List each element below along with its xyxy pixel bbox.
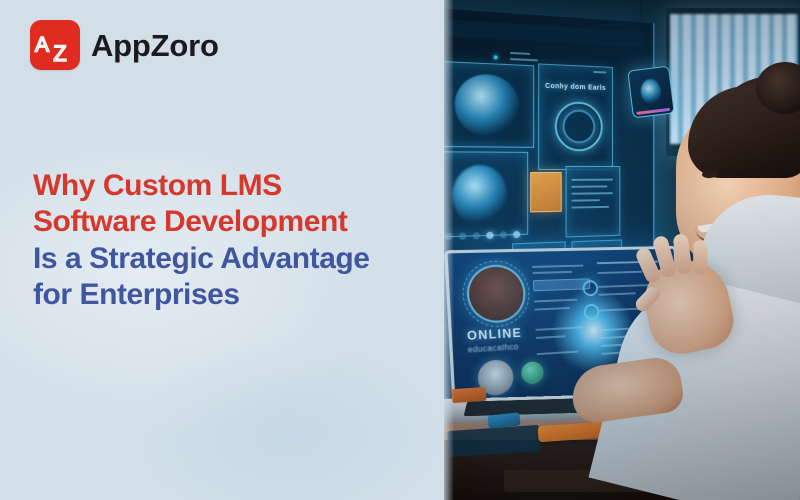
left-content-panel: A Z AppZoro Why Custom LMS Software Deve… (0, 0, 444, 500)
holo-indicator-dot (494, 55, 498, 59)
blog-banner: A Z AppZoro Why Custom LMS Software Deve… (0, 0, 800, 500)
svg-text:A: A (35, 34, 49, 57)
avatar (465, 264, 526, 324)
brain-orb (455, 73, 519, 137)
control-dot[interactable] (473, 232, 480, 239)
figure-orb (453, 165, 507, 226)
screen-text-line (597, 271, 642, 274)
screen-sublabel: educacathco (468, 342, 519, 354)
headline-line-3: Is a Strategic Advantage (33, 241, 433, 277)
headline-line-1: Why Custom LMS (33, 168, 433, 204)
floating-ar-card (627, 66, 675, 119)
holo-control-row[interactable] (445, 231, 520, 241)
holo-tile-brain (444, 61, 534, 148)
background-wash-secondary (120, 330, 444, 500)
notebook (452, 387, 487, 403)
finger (693, 240, 707, 274)
headline-line-2: Software Development (33, 204, 433, 240)
brand-name: AppZoro (91, 30, 219, 61)
page-title: Why Custom LMS Software Development Is a… (33, 168, 433, 314)
holo-panel-line (593, 71, 606, 74)
holo-tile-figure (444, 151, 528, 238)
control-dot[interactable] (486, 232, 493, 239)
screen-text-line (598, 284, 652, 288)
control-dot[interactable] (445, 233, 453, 241)
holo-text-line (571, 199, 599, 201)
thumbnail-orange (530, 172, 562, 212)
holo-toolbar-line (510, 58, 538, 61)
screen-text-line (532, 271, 572, 274)
screen-label-online: ONLINE (467, 326, 523, 343)
holo-toolbar (444, 19, 644, 47)
screen-text-line (532, 265, 583, 268)
holo-tile-text (566, 166, 621, 237)
headline-line-4: for Enterprises (33, 277, 433, 313)
control-dot[interactable] (459, 232, 466, 240)
globe-icon (521, 361, 544, 385)
control-dot[interactable] (500, 231, 507, 238)
holo-toolbar-line (510, 52, 530, 55)
holo-text-line (571, 185, 607, 187)
appzoro-logo-icon: A Z (30, 20, 80, 70)
hologram-caption: Conhy dom Earls (545, 83, 606, 92)
hero-image: Conhy dom Earls (444, 0, 800, 500)
brand-logo[interactable]: A Z AppZoro (30, 20, 219, 70)
photo-scene: Conhy dom Earls (444, 0, 800, 500)
svg-text:Z: Z (53, 41, 66, 66)
control-dot[interactable] (513, 231, 520, 238)
holo-text-line (571, 206, 609, 209)
card-orb (639, 78, 662, 106)
holo-text-line (571, 179, 613, 181)
holo-tile-captioned: Conhy dom Earls (538, 63, 613, 170)
holo-text-line (571, 192, 613, 194)
swirl-ring-inner (563, 109, 595, 143)
